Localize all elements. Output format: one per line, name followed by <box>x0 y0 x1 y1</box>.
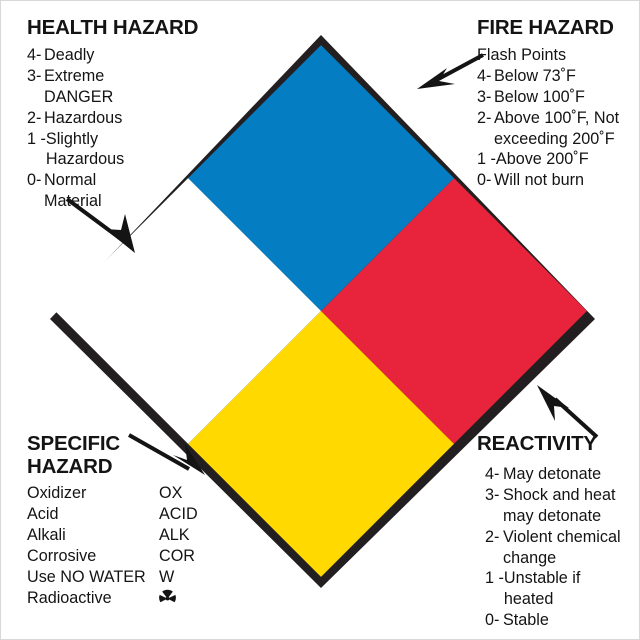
list-item: 4- Below 73˚F <box>477 66 640 87</box>
list-item: 1 - Slightly Hazardous <box>27 129 217 171</box>
specific-hazard-name: Oxidizer <box>27 483 159 504</box>
list-item: 0- Will not burn <box>477 170 640 191</box>
list-item: 2- Hazardous <box>27 108 217 129</box>
health-hazard-title: HEALTH HAZARD <box>27 17 217 40</box>
specific-hazard-panel: SPECIFIC HAZARD Oxidizer OX Acid ACID Al… <box>27 433 242 608</box>
health-level: 2- <box>27 108 44 129</box>
radioactive-trefoil-icon <box>159 589 176 606</box>
fire-text: Below 73˚F <box>494 66 640 87</box>
reactivity-level: 1 - <box>485 568 504 589</box>
fire-level: 2- <box>477 108 494 129</box>
table-row: Acid ACID <box>27 504 198 525</box>
fire-level: 1 - <box>477 149 496 170</box>
specific-hazard-name: Alkali <box>27 525 159 546</box>
health-level: 0- <box>27 170 44 191</box>
quadrant-fire-top <box>321 178 587 444</box>
list-item: 2- Violent chemical change <box>485 527 640 569</box>
health-text: Deadly <box>44 45 217 66</box>
reactivity-level: 4- <box>485 464 503 485</box>
specific-hazard-name: Radioactive <box>27 588 159 609</box>
health-text: Slightly Hazardous <box>46 129 217 171</box>
reactivity-text: Violent chemical change <box>503 527 640 569</box>
table-row: Alkali ALK <box>27 525 198 546</box>
reactivity-text: Unstable if heated <box>504 568 640 610</box>
specific-hazard-code: ALK <box>159 525 198 546</box>
reactivity-level: 2- <box>485 527 503 548</box>
fire-hazard-subtitle: Flash Points <box>477 45 640 66</box>
specific-hazard-name: Use NO WATER <box>27 567 159 588</box>
list-item: 0- Normal Material <box>27 170 217 212</box>
health-hazard-list: 4- Deadly 3- Extreme DANGER 2- Hazardous… <box>27 45 217 212</box>
fire-text: Will not burn <box>494 170 640 191</box>
list-item: 4- May detonate <box>485 464 640 485</box>
arrow-fire-to-red <box>413 53 485 97</box>
health-text: Hazardous <box>44 108 217 129</box>
specific-hazard-name: Corrosive <box>27 546 159 567</box>
reactivity-text: Stable <box>503 610 640 631</box>
reactivity-level: 3- <box>485 485 503 506</box>
specific-hazard-name: Acid <box>27 504 159 525</box>
quadrant-specific-bottom <box>55 178 321 444</box>
specific-hazard-code <box>159 588 198 609</box>
health-text: Extreme DANGER <box>44 66 217 108</box>
health-level: 4- <box>27 45 44 66</box>
fire-level: 3- <box>477 87 494 108</box>
table-row: Radioactive <box>27 588 198 609</box>
reactivity-title: REACTIVITY <box>477 433 640 456</box>
reactivity-text: May detonate <box>503 464 640 485</box>
health-text: Normal Material <box>44 170 217 212</box>
table-row: Oxidizer OX <box>27 483 198 504</box>
fire-text: Below 100˚F <box>494 87 640 108</box>
fire-hazard-title: FIRE HAZARD <box>477 17 640 40</box>
specific-hazard-title: SPECIFIC HAZARD <box>27 433 242 478</box>
reactivity-panel: REACTIVITY 4- May detonate 3- Shock and … <box>477 433 640 631</box>
list-item: 4- Deadly <box>27 45 217 66</box>
list-item: 3- Shock and heat may detonate <box>485 485 640 527</box>
fire-text: Above 100˚F, Not exceeding 200˚F <box>494 108 640 150</box>
health-hazard-panel: HEALTH HAZARD 4- Deadly 3- Extreme DANGE… <box>27 17 217 212</box>
specific-hazard-table: Oxidizer OX Acid ACID Alkali ALK Corrosi… <box>27 483 198 608</box>
fire-level: 4- <box>477 66 494 87</box>
fire-text: Above 200˚F <box>496 149 640 170</box>
reactivity-text: Shock and heat may detonate <box>503 485 640 527</box>
list-item: 3- Below 100˚F <box>477 87 640 108</box>
table-row: Use NO WATER W <box>27 567 198 588</box>
list-item: 3- Extreme DANGER <box>27 66 217 108</box>
fire-hazard-panel: FIRE HAZARD Flash Points 4- Below 73˚F 3… <box>477 17 640 191</box>
list-item: 1 - Unstable if heated <box>485 568 640 610</box>
nfpa-label-card: HEALTH HAZARD 4- Deadly 3- Extreme DANGE… <box>0 0 640 640</box>
quadrant-health-left <box>188 45 454 311</box>
list-item: 2- Above 100˚F, Not exceeding 200˚F <box>477 108 640 150</box>
table-row: Corrosive COR <box>27 546 198 567</box>
specific-hazard-code: W <box>159 567 198 588</box>
specific-hazard-code: OX <box>159 483 198 504</box>
list-item: 1 - Above 200˚F <box>477 149 640 170</box>
specific-hazard-code: COR <box>159 546 198 567</box>
health-level: 1 - <box>27 129 46 150</box>
reactivity-level: 0- <box>485 610 503 631</box>
fire-hazard-list: 4- Below 73˚F 3- Below 100˚F 2- Above 10… <box>477 66 640 191</box>
fire-level: 0- <box>477 170 494 191</box>
health-level: 3- <box>27 66 44 87</box>
reactivity-list: 4- May detonate 3- Shock and heat may de… <box>477 464 640 631</box>
specific-hazard-code: ACID <box>159 504 198 525</box>
list-item: 0- Stable <box>485 610 640 631</box>
